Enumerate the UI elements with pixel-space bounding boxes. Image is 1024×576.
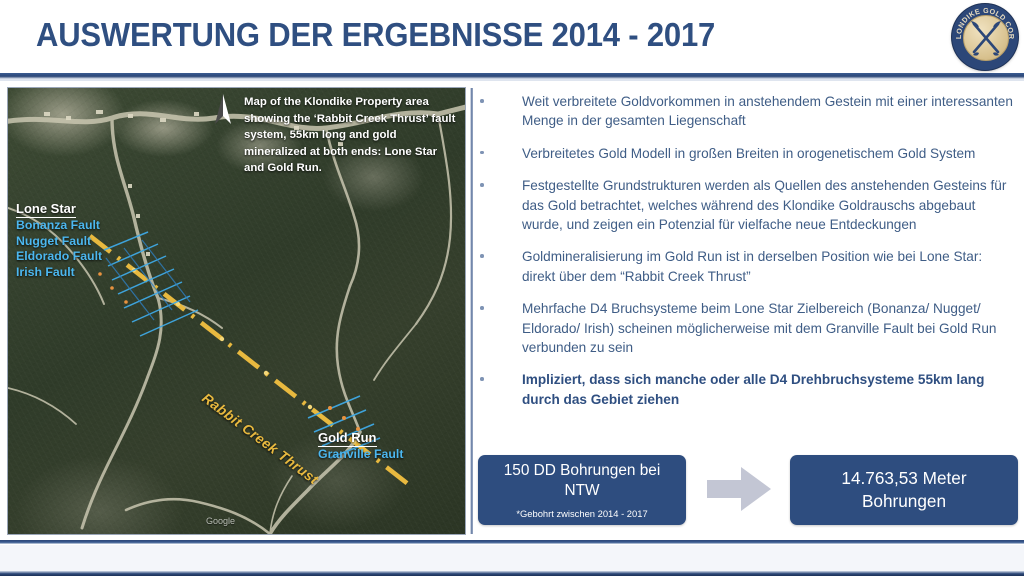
bullet-dot-icon: [480, 254, 484, 258]
bullet-text: Goldmineralisierung im Gold Run ist in d…: [522, 247, 1018, 286]
bullet-text: Weit verbreitete Goldvorkommen in ansteh…: [522, 92, 1018, 131]
bullet-text: Mehrfache D4 Bruchsysteme beim Lone Star…: [522, 299, 1018, 357]
bullet-dot-icon: [480, 151, 484, 155]
satellite-map[interactable]: Map of the Klondike Property area showin…: [8, 88, 465, 534]
header-divider-secondary: [0, 79, 1024, 81]
callout-total-meters: 14.763,53 Meter Bohrungen: [790, 455, 1018, 525]
fault-eldorado: Eldorado Fault: [16, 249, 102, 265]
callout-left-footnote: *Gebohrt zwischen 2014 - 2017: [508, 507, 655, 520]
crossed-pick-and-shovel-icon: [964, 16, 1008, 60]
callout-right-main: 14.763,53 Meter Bohrungen: [790, 467, 1018, 513]
fault-nugget: Nugget Fault: [16, 234, 102, 250]
google-watermark: Google: [206, 516, 235, 526]
north-arrow-icon: [211, 93, 235, 127]
fault-granville: Granville Fault: [318, 447, 403, 463]
callout-left-main: 150 DD Bohrungen bei NTW: [478, 461, 686, 501]
logo-inner-disc: [963, 15, 1009, 61]
list-item: Festgestellte Grundstrukturen werden als…: [478, 176, 1018, 234]
klondike-gold-corp-logo: KLONDIKE GOLD CORP TSXV: KG: [952, 4, 1018, 70]
map-caption: Map of the Klondike Property area showin…: [244, 94, 458, 177]
right-arrow-icon: [705, 463, 773, 515]
bullet-dot-icon: [480, 377, 484, 381]
bullet-text: Festgestellte Grundstrukturen werden als…: [522, 176, 1018, 234]
map-label-lone-star: Lone Star Bonanza Fault Nugget Fault Eld…: [16, 200, 102, 280]
column-divider: [470, 88, 473, 534]
fault-irish: Irish Fault: [16, 265, 102, 281]
bullet-text: Impliziert, dass sich manche oder alle D…: [522, 370, 1018, 409]
list-item: Goldmineralisierung im Gold Run ist in d…: [478, 247, 1018, 286]
footer-bottom-divider: [0, 571, 1024, 576]
list-item: Weit verbreitete Goldvorkommen in ansteh…: [478, 92, 1018, 131]
list-item: Impliziert, dass sich manche oder alle D…: [478, 370, 1018, 409]
slide-header: AUSWERTUNG DER ERGEBNISSE 2014 - 2017: [0, 0, 1024, 74]
site-name-lone-star: Lone Star: [16, 201, 76, 218]
callout-row: 150 DD Bohrungen bei NTW *Gebohrt zwisch…: [478, 455, 1018, 527]
slide: AUSWERTUNG DER ERGEBNISSE 2014 - 2017 KL…: [0, 0, 1024, 576]
bullet-dot-icon: [480, 99, 484, 103]
list-item: Mehrfache D4 Bruchsysteme beim Lone Star…: [478, 299, 1018, 357]
bullet-text: Verbreitetes Gold Modell in großen Breit…: [522, 144, 1018, 163]
callout-drill-holes: 150 DD Bohrungen bei NTW *Gebohrt zwisch…: [478, 455, 686, 525]
footer-top-divider: [0, 540, 1024, 544]
bullet-list: Weit verbreitete Goldvorkommen in ansteh…: [478, 92, 1018, 422]
list-item: Verbreitetes Gold Modell in großen Breit…: [478, 144, 1018, 163]
bullet-dot-icon: [480, 183, 484, 187]
bullet-dot-icon: [480, 306, 484, 310]
site-name-gold-run: Gold Run: [318, 430, 377, 447]
map-label-gold-run: Gold Run Granville Fault: [318, 429, 403, 463]
page-title: AUSWERTUNG DER ERGEBNISSE 2014 - 2017: [36, 16, 715, 54]
fault-bonanza: Bonanza Fault: [16, 218, 102, 234]
